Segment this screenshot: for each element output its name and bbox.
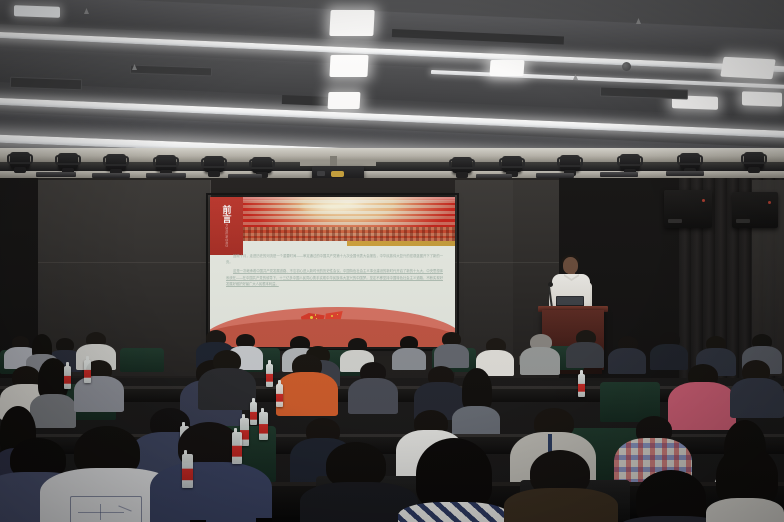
stage-light xyxy=(204,156,224,172)
audience-area xyxy=(0,330,784,522)
ceiling-panel-light xyxy=(329,55,368,77)
projector-lens xyxy=(331,171,344,177)
slide-paragraph: 这是一次继承着中国共产党发展道路、不忘初心进入新时代的历史性会议。中国特色社会主… xyxy=(226,268,443,287)
slide-tab-label-en: FOREWORD xyxy=(225,224,229,247)
slide-body-text: 回顾十月，走进历史的河流是一个重要时间——审定通过的中国共产党第十九次全国代表大… xyxy=(210,247,455,309)
slide-header-image xyxy=(210,197,455,241)
chair xyxy=(120,348,164,372)
projector-pole xyxy=(330,156,337,166)
stage-light xyxy=(502,156,522,172)
stage-light xyxy=(560,155,580,171)
ceiling-panel-light xyxy=(329,10,374,36)
ceiling-speaker xyxy=(622,62,631,71)
water-bottle xyxy=(266,364,273,387)
ceiling xyxy=(0,0,784,172)
stage-light xyxy=(620,154,640,170)
water-bottle xyxy=(276,384,283,407)
ceiling-vent xyxy=(10,77,82,91)
bar-light-fixture xyxy=(600,172,638,177)
desk-leg xyxy=(256,518,272,522)
ceiling-panel-light xyxy=(14,5,60,18)
speaker-led-icon xyxy=(702,199,705,202)
hall-seating-rows xyxy=(242,227,455,241)
wall-speaker-right xyxy=(732,192,778,228)
stage-light xyxy=(452,157,472,173)
speaker-led-icon xyxy=(768,201,771,204)
stage-light xyxy=(106,154,126,170)
projector-vent xyxy=(317,171,325,176)
water-bottle xyxy=(182,454,193,488)
hall-ceiling-glow xyxy=(298,199,367,215)
ceiling-panel-light xyxy=(328,92,361,109)
laptop-screen xyxy=(557,297,583,305)
slide-tab-label-cn: 前言 xyxy=(222,205,232,223)
bar-light-fixture xyxy=(36,172,76,177)
slide-gold-accent-bar xyxy=(347,241,455,246)
stage-light xyxy=(156,155,176,171)
stage-light xyxy=(744,152,764,168)
stage-light xyxy=(58,153,78,169)
slide-paragraph: 回顾十月，走进历史的河流是一个重要时间——审定通过的中国共产党第十九次全国代表大… xyxy=(226,253,443,265)
tshirt-graphic xyxy=(70,496,142,522)
ceiling-panel-light xyxy=(742,91,782,106)
water-bottle xyxy=(232,432,242,464)
water-bottle xyxy=(259,412,268,440)
stage-light xyxy=(252,157,272,173)
water-bottle xyxy=(578,374,585,397)
wall-seam xyxy=(38,262,210,263)
bar-light-fixture xyxy=(666,171,704,176)
stage-light xyxy=(680,153,700,169)
water-bottle xyxy=(250,402,257,425)
sprinkler-head xyxy=(636,18,641,24)
water-bottle xyxy=(84,360,91,383)
water-bottle xyxy=(64,366,71,389)
ceiling-panel-light xyxy=(720,57,776,80)
wall-speaker-left xyxy=(664,190,712,228)
stage-light xyxy=(10,152,30,168)
speaker-grille xyxy=(668,219,682,223)
wall-seam xyxy=(455,262,559,263)
ceiling-panel-light xyxy=(489,60,524,76)
star-icon xyxy=(315,314,317,316)
conference-hall-photo: 前言 FOREWORD 回顾十月，走进历史的河流是一个重要时间——审定通过的中国… xyxy=(0,0,784,522)
speaker-grille xyxy=(736,219,750,223)
projection-screen: 前言 FOREWORD 回顾十月，走进历史的河流是一个重要时间——审定通过的中国… xyxy=(210,197,455,347)
